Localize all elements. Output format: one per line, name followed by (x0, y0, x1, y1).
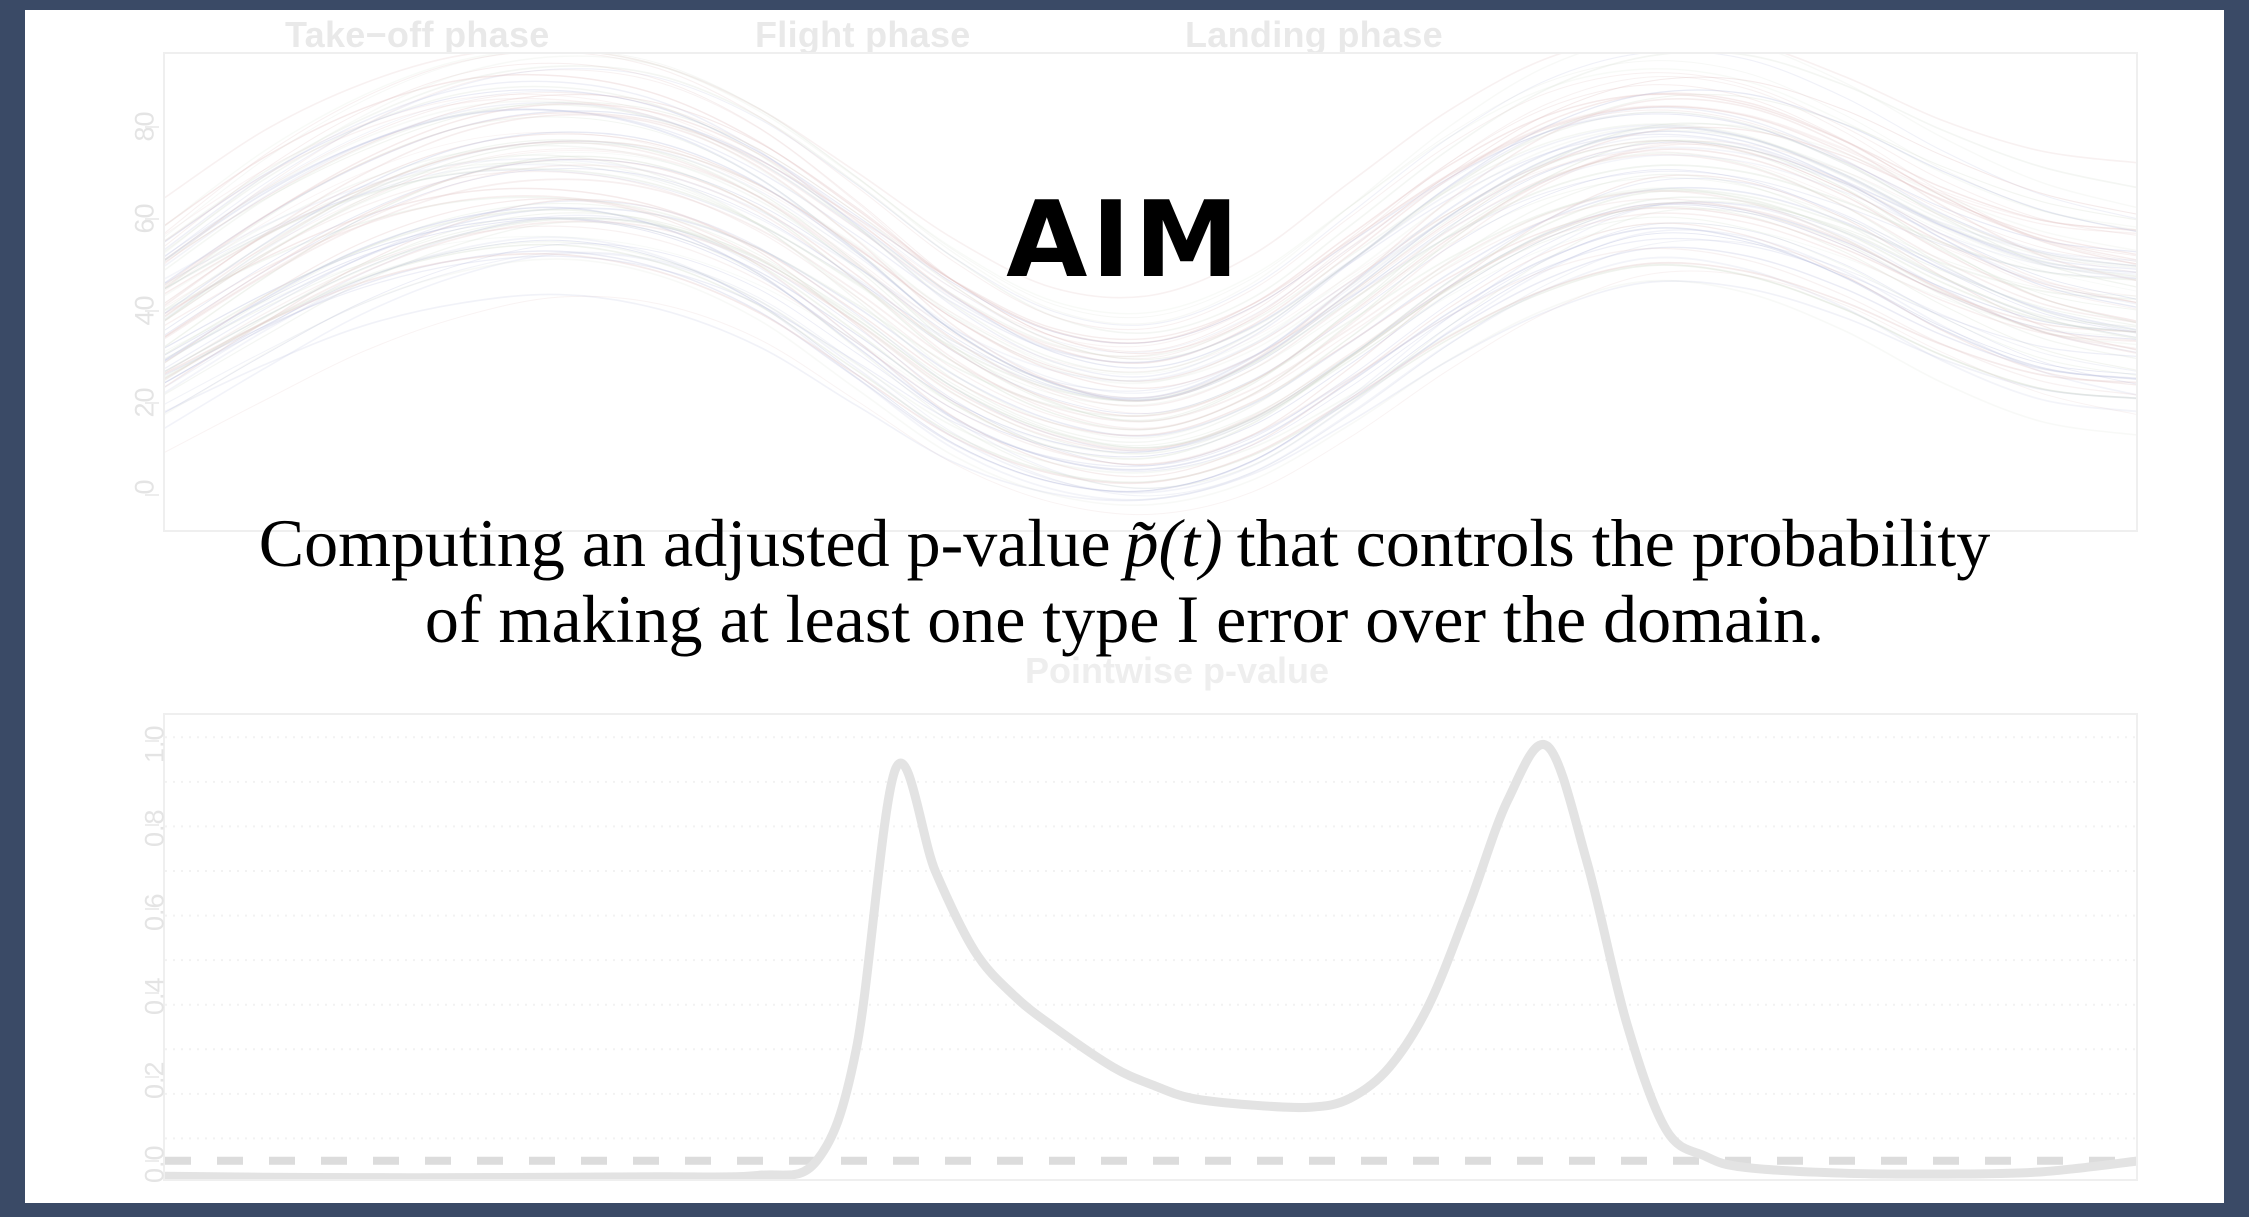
aim-statement: Computing an adjusted p-valuep̃(t)that c… (35, 505, 2214, 657)
ytick-label-0-4: 0.4 (140, 978, 171, 1050)
pvalue-svg (165, 715, 2138, 1181)
ytick-label-20: 20 (130, 388, 161, 448)
statement-line-1: Computing an adjusted p-valuep̃(t)that c… (35, 505, 2214, 581)
statement-part-1: Computing an adjusted p-value (259, 505, 1111, 581)
ytick-label-0-2: 0.2 (140, 1062, 171, 1134)
adjusted-pvalue-curve (165, 744, 2138, 1177)
ytick-label-0-8: 0.8 (140, 810, 171, 882)
phase-label-flight: Flight phase (755, 14, 971, 56)
ytick-label-1-0: 1.0 (140, 726, 171, 798)
adjusted-pvalue-formula: p̃(t) (1111, 505, 1237, 581)
statement-line-2: of making at least one type I error over… (35, 581, 2214, 657)
phase-label-takeoff: Take−off phase (285, 14, 550, 56)
pvalue-plot-frame (163, 713, 2138, 1181)
slide-canvas: Take−off phase Flight phase Landing phas… (25, 10, 2224, 1203)
bundle-curve (165, 281, 2138, 501)
statement-part-2: that controls the probability (1237, 505, 1991, 581)
phase-label-landing: Landing phase (1185, 14, 1443, 56)
ytick-label-40: 40 (130, 296, 161, 356)
ytick-label-0-0: 0.0 (140, 1146, 171, 1204)
ytick-label-80: 80 (130, 112, 161, 172)
ytick-label-0-6: 0.6 (140, 894, 171, 966)
adjusted-pvalue-chart (163, 713, 2138, 1181)
page-title: AIM (25, 188, 2224, 293)
